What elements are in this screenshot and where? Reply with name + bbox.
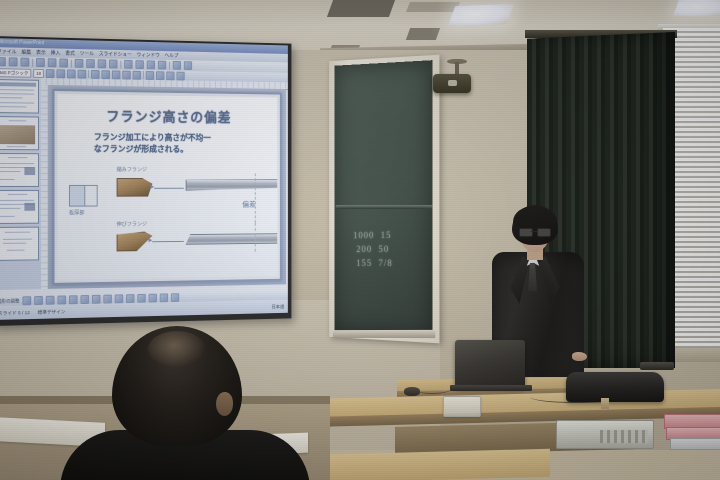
pointer-arrow-bottom [149,238,153,242]
thumb-line [8,157,28,158]
thumb-line [7,250,25,252]
clear-plastic-container[interactable] [443,396,481,417]
thumb-line [3,243,27,245]
audience-scalp-highlight [148,331,206,367]
italic-icon[interactable] [56,69,65,78]
align-right-icon[interactable] [112,70,121,79]
slide-body-line-1: フランジ加工により高さが不均一 [94,132,261,144]
slide-frame: フランジ高さの偏差 フランジ加工により高さが不均一 なフランジが形成される。 板… [53,89,282,285]
cut-icon[interactable] [75,59,84,68]
flange-cross-section-bottom [117,232,153,252]
thumb-line [0,106,26,108]
deviation-label: 偏差 [242,199,256,210]
menu-item-view[interactable]: 表示 [36,49,46,56]
toolbar-separator [71,59,72,67]
align-left-icon[interactable] [91,69,100,78]
new-file-icon[interactable] [0,57,6,66]
thumb-line [9,120,27,122]
print-icon[interactable] [36,58,45,67]
draw-menu-label[interactable]: 図形の調整 [0,298,20,304]
lecture-room-screenshot: 1000 15 200 50 155 7/8 Microsoft PowerPo… [0,0,720,480]
slide-thumbnail-panel[interactable] [0,77,45,290]
toolbar-separator [143,71,144,79]
slide-body-line-2: なフランジが形成される。 [94,143,261,155]
rectangle-icon[interactable] [69,295,78,304]
undo-icon[interactable] [124,60,132,69]
autoshapes-icon[interactable] [34,296,43,305]
thumb-image [0,125,35,144]
fill-color-icon[interactable] [126,294,134,303]
align-center-icon[interactable] [101,70,110,79]
menu-item-format[interactable]: 書式 [65,50,75,57]
paste-icon[interactable] [98,59,107,68]
ceiling-tile [406,28,440,40]
ceiling-tile [327,0,395,17]
thumb-line [0,200,34,202]
thumb-line [0,102,34,104]
thumb-line [0,216,15,217]
bullet-list-icon[interactable] [122,70,130,79]
spellcheck-icon[interactable] [59,58,68,67]
underline-icon[interactable] [67,69,76,78]
thumb-block [24,203,35,211]
numbered-list-icon[interactable] [133,70,141,79]
front-desk-right-top [300,449,550,480]
corner-label: 板厚部 [69,209,85,217]
blackboard-divider [336,205,433,209]
thumb-line [7,146,27,148]
glasses-lens-right [537,228,551,237]
laptop-bag[interactable] [566,372,664,402]
3d-style-icon[interactable] [171,293,179,302]
thumb-line [0,208,20,209]
demote-icon[interactable] [176,71,184,80]
list-item[interactable] [0,190,39,224]
thumb-block [24,167,35,175]
wordart-icon[interactable] [103,295,112,304]
line-color-icon[interactable] [137,294,145,303]
bottom-flange-label: 伸びフランジ [117,220,147,228]
blackboard [335,60,433,336]
promote-icon[interactable] [166,71,174,80]
thumb-line [0,163,34,164]
menu-item-insert[interactable]: 挿入 [51,49,61,56]
ceiling-light-icon [448,4,514,26]
white-document-stack[interactable] [670,438,720,450]
select-arrow-icon[interactable] [22,296,31,305]
blackboard-chalk-text: 1000 15 200 50 155 7/8 [353,228,428,291]
open-folder-icon[interactable] [9,57,18,66]
toolbar-separator [88,70,89,78]
list-item[interactable] [0,79,39,113]
slide-counter: スライド 5 / 12 [0,309,30,317]
shadow-icon[interactable] [78,69,87,78]
bag-tag [601,398,609,409]
flange-bar-bottom [186,233,278,245]
thumb-line [0,89,34,91]
flange-bar-top [186,179,278,191]
thumb-line [3,239,32,241]
toolbar-separator [120,60,121,68]
pointer-line-bottom [152,241,184,242]
menu-item-window[interactable]: ウィンドウ [136,51,159,58]
ellipse-icon[interactable] [80,295,89,304]
ceiling-light-icon [673,0,720,16]
pointer-arrow-top [150,185,154,189]
glasses-icon [519,228,550,235]
format-painter-icon[interactable] [109,60,118,69]
laptop-base [450,385,532,391]
slide-title: フランジ高さの偏差 [57,106,277,128]
thumb-line [0,179,15,180]
copy-icon[interactable] [86,59,95,68]
insert-chart-icon[interactable] [158,61,166,70]
arrow-icon[interactable] [57,295,66,304]
flange-cross-section-top [117,178,153,197]
textbox-icon[interactable] [92,295,101,304]
presentation-remote[interactable] [640,362,674,370]
powerpoint-window: Microsoft PowerPoint ファイル 編集 表示 挿入 書式 ツー… [0,38,288,320]
ceiling-tile [406,2,460,12]
thumb-line [8,194,28,195]
presenter-hair-fringe [513,206,557,228]
redo-icon[interactable] [135,60,143,69]
status-right-group: 日本語 [271,303,284,310]
font-color-icon[interactable] [149,294,157,303]
thumb-title-bar [0,82,36,87]
reference-box-inner [69,185,85,207]
list-item[interactable] [0,116,39,150]
increase-font-icon[interactable] [146,71,154,80]
font-family-select[interactable]: MS Pゴシック [0,68,31,78]
help-icon[interactable] [184,61,192,70]
thumb-line [0,97,22,99]
projector-lens-icon [448,80,457,86]
bold-icon[interactable] [46,69,55,78]
projection-screen: Microsoft PowerPoint ファイル 編集 表示 挿入 書式 ツー… [0,36,291,326]
menu-item-file[interactable]: ファイル [0,48,17,55]
decrease-font-icon[interactable] [156,71,164,80]
language-indicator: 日本語 [271,303,284,310]
thumb-line [0,93,34,95]
clipart-icon[interactable] [115,294,123,303]
list-item[interactable] [0,153,39,187]
laptop[interactable] [455,340,525,388]
toolbar-separator [32,58,33,66]
thumb-line [5,232,30,234]
menu-item-tools[interactable]: ツール [80,50,94,57]
slide-edit-area[interactable]: フランジ高さの偏差 フランジ加工により高さが不均一 なフランジが形成される。 板… [48,85,286,289]
slide-body-text: フランジ加工により高さが不均一 なフランジが形成される。 [94,132,261,155]
equipment-case-front-panel [600,430,648,443]
pointer-line-top [154,188,184,189]
line-icon[interactable] [46,296,55,305]
centerline-bottom [255,223,256,252]
chalk-tray [333,330,435,338]
list-item[interactable] [0,227,39,261]
presenter-hand-right [572,352,587,361]
menu-item-slideshow[interactable]: スライドショー [99,50,132,58]
design-name: 標準デザイン [38,308,66,316]
print-preview-icon[interactable] [48,58,57,67]
current-slide[interactable]: フランジ高さの偏差 フランジ加工により高さが不均一 なフランジが形成される。 板… [57,94,277,280]
zoom-icon[interactable] [173,61,181,70]
insert-table-icon[interactable] [147,60,155,69]
font-size-select[interactable]: 18 [33,68,44,77]
thumb-line [0,171,20,172]
audience-ear [216,392,233,416]
save-icon[interactable] [20,58,29,67]
glasses-lens-left [519,228,533,237]
menu-item-help[interactable]: ヘルプ [165,52,179,59]
shadow-style-icon[interactable] [160,293,168,302]
toolbar-separator [169,61,170,69]
top-flange-label: 縮みフランジ [117,165,147,173]
menu-item-edit[interactable]: 編集 [21,49,31,56]
